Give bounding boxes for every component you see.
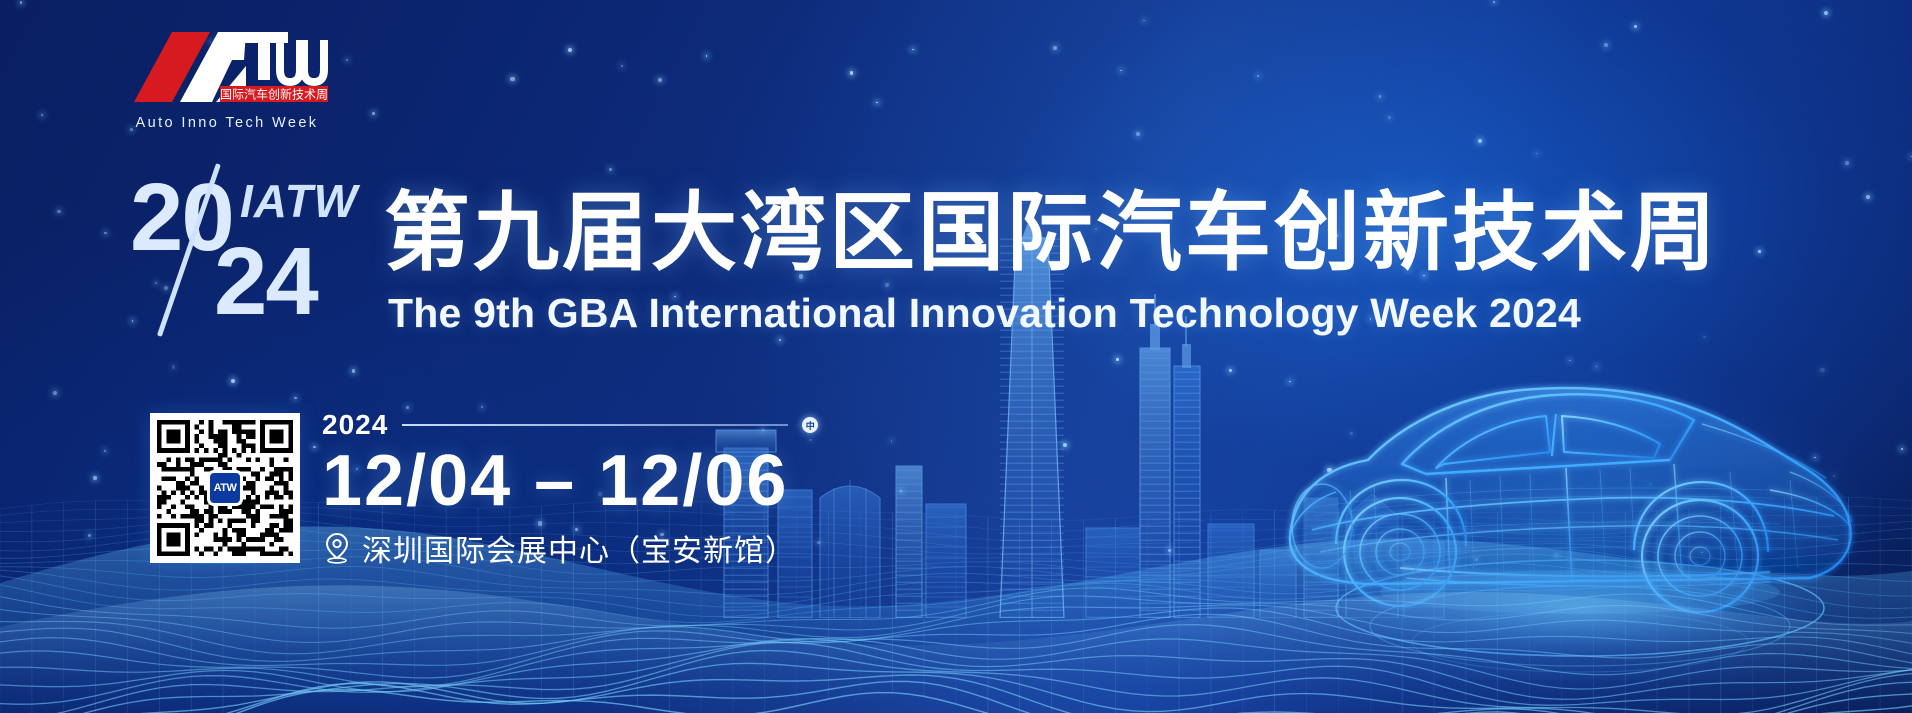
qr-center-logo: ATW — [207, 470, 243, 506]
event-date-range: 12/04 – 12/06 — [322, 444, 942, 520]
decorative-rule — [402, 424, 788, 426]
event-year: 2024 — [322, 409, 388, 441]
event-venue: 深圳国际会展中心（宝安新馆） — [322, 526, 942, 570]
venue-label: 深圳国际会展中心（宝安新馆） — [362, 526, 796, 570]
car-hologram-glow — [1300, 360, 1870, 680]
wireframe-car-hologram — [1250, 340, 1910, 700]
date-year-row: 2024 中 — [322, 408, 942, 442]
atw-logo-mark: 国际汽车创新技术周 — [124, 26, 334, 110]
rule-end-badge-icon: 中 — [802, 417, 818, 433]
acronym-iatw: IATW — [240, 174, 358, 228]
logo-tagline: Auto Inno Tech Week — [124, 115, 330, 131]
event-banner: 国际汽车创新技术周 Auto Inno Tech Week 20 IATW 24… — [0, 0, 1912, 713]
logo-badge-text: 国际汽车创新技术周 — [220, 87, 328, 102]
year-acronym-block: 20 IATW 24 — [136, 176, 366, 320]
page-title: 第九届大湾区国际汽车创新技术周 — [384, 190, 1719, 278]
event-date-block: 2024 中 12/04 – 12/06 深圳国际会展中心（宝安新馆） — [322, 408, 942, 570]
year-bottom: 24 — [214, 234, 317, 330]
page-subtitle: The 9th GBA International Innovation Tec… — [388, 290, 1581, 337]
atw-logo[interactable]: 国际汽车创新技术周 Auto Inno Tech Week — [124, 26, 334, 131]
qr-matrix: ATW — [157, 420, 293, 556]
location-pin-icon — [322, 531, 352, 565]
qr-code[interactable]: ATW — [150, 413, 300, 563]
